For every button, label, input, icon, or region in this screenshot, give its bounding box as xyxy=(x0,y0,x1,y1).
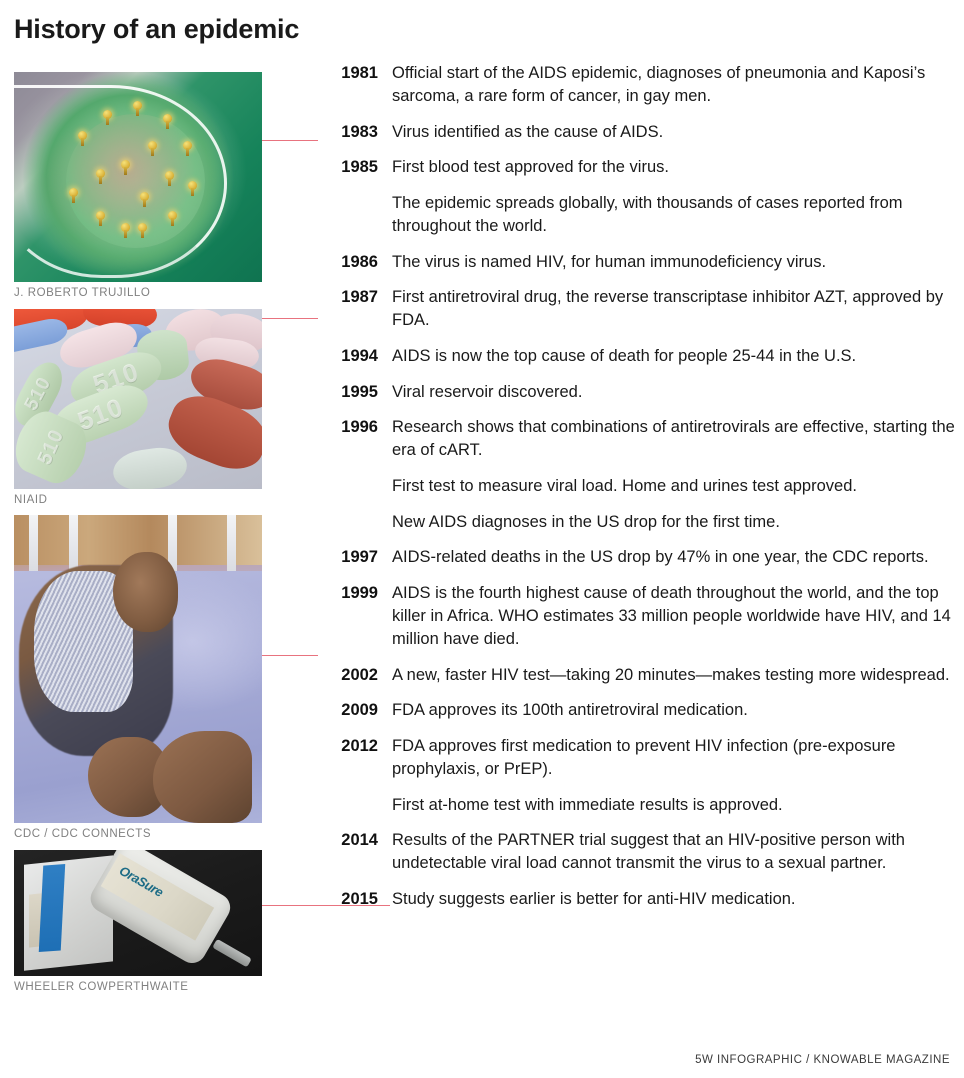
timeline-row: 1987First antiretroviral drug, the rever… xyxy=(326,286,956,332)
photo-block-virion: J. ROBERTO TRUJILLO xyxy=(14,72,262,309)
connector-1983 xyxy=(262,140,318,141)
timeline-year: 1997 xyxy=(326,546,378,569)
timeline-year: 1986 xyxy=(326,251,378,274)
timeline-year: 2014 xyxy=(326,829,378,852)
timeline-row: First at-home test with immediate result… xyxy=(326,794,956,817)
timeline-row: 1999AIDS is the fourth highest cause of … xyxy=(326,582,956,650)
glycoprotein-spike-icon xyxy=(103,110,112,119)
photo-block-test-kit: OraSure WHEELER COWPERTHWAITE xyxy=(14,850,262,1003)
glycoprotein-spike-icon xyxy=(121,223,130,232)
timeline-row: 1986The virus is named HIV, for human im… xyxy=(326,251,956,274)
timeline-year: 1995 xyxy=(326,381,378,404)
timeline-row: 1996Research shows that combinations of … xyxy=(326,416,956,462)
photo-caption: CDC / CDC CONNECTS xyxy=(14,823,262,850)
glycoprotein-spike-icon xyxy=(165,171,174,180)
glycoprotein-spike-icon xyxy=(163,114,172,123)
photo-caption: WHEELER COWPERTHWAITE xyxy=(14,976,262,1003)
photo-caption: NIAID xyxy=(14,489,262,516)
timeline-list: 1981Official start of the AIDS epidemic,… xyxy=(326,62,956,924)
caregiver-hand xyxy=(153,731,252,823)
timeline-description: First at-home test with immediate result… xyxy=(392,794,783,817)
timeline-description: FDA approves first medication to prevent… xyxy=(392,735,956,781)
photo-column: J. ROBERTO TRUJILLO 510 510 510 510 xyxy=(14,72,262,1003)
timeline-description: Research shows that combinations of anti… xyxy=(392,416,956,462)
bed-rail xyxy=(227,515,236,577)
photo-caption: J. ROBERTO TRUJILLO xyxy=(14,282,262,309)
timeline-description: AIDS is now the top cause of death for p… xyxy=(392,345,856,368)
pill-shape xyxy=(111,444,190,489)
timeline-row: 2014Results of the PARTNER trial suggest… xyxy=(326,829,956,875)
glycoprotein-spike-icon xyxy=(96,211,105,220)
timeline-row: The epidemic spreads globally, with thou… xyxy=(326,192,956,238)
connector-1987 xyxy=(262,318,318,319)
aids-patient-photo xyxy=(14,515,262,823)
glycoprotein-spike-icon xyxy=(96,169,105,178)
test-tip xyxy=(213,939,252,968)
patient-head xyxy=(113,552,177,632)
page-title: History of an epidemic xyxy=(14,14,299,45)
glycoprotein-spike-icon xyxy=(69,188,78,197)
timeline-description: The virus is named HIV, for human immuno… xyxy=(392,251,826,274)
timeline-row: 1983Virus identified as the cause of AID… xyxy=(326,121,956,144)
at-home-test-kit-photo: OraSure xyxy=(14,850,262,976)
timeline-year: 1985 xyxy=(326,156,378,179)
timeline-row: 2009FDA approves its 100th antiretrovira… xyxy=(326,699,956,722)
timeline-description: Results of the PARTNER trial suggest tha… xyxy=(392,829,956,875)
photo-block-patient: CDC / CDC CONNECTS xyxy=(14,515,262,850)
timeline-year: 2012 xyxy=(326,735,378,758)
glycoprotein-spike-icon xyxy=(183,141,192,150)
footer-credit: 5W INFOGRAPHIC / KNOWABLE MAGAZINE xyxy=(695,1054,950,1066)
timeline-row: 1994AIDS is now the top cause of death f… xyxy=(326,345,956,368)
timeline-description: Virus identified as the cause of AIDS. xyxy=(392,121,663,144)
timeline-year: 2015 xyxy=(326,888,378,911)
glycoprotein-spike-icon xyxy=(121,160,130,169)
timeline-year: 1996 xyxy=(326,416,378,439)
infographic-page: History of an epidemic xyxy=(0,0,964,1078)
timeline-year: 1981 xyxy=(326,62,378,85)
timeline-year: 1987 xyxy=(326,286,378,309)
connector-1999 xyxy=(262,655,318,656)
photo-block-pills: 510 510 510 510 NIAID xyxy=(14,309,262,516)
timeline-description: A new, faster HIV test—taking 20 minutes… xyxy=(392,664,950,687)
timeline-row: 2002A new, faster HIV test—taking 20 min… xyxy=(326,664,956,687)
timeline-description: The epidemic spreads globally, with thou… xyxy=(392,192,956,238)
timeline-description: AIDS is the fourth highest cause of deat… xyxy=(392,582,956,650)
timeline-description: Official start of the AIDS epidemic, dia… xyxy=(392,62,956,108)
timeline-year: 1983 xyxy=(326,121,378,144)
timeline-row: 2015Study suggests earlier is better for… xyxy=(326,888,956,911)
timeline-description: Study suggests earlier is better for ant… xyxy=(392,888,796,911)
antiretroviral-pills-photo: 510 510 510 510 xyxy=(14,309,262,489)
timeline-description: First antiretroviral drug, the reverse t… xyxy=(392,286,956,332)
glycoprotein-spike-icon xyxy=(188,181,197,190)
timeline-description: FDA approves its 100th antiretroviral me… xyxy=(392,699,748,722)
timeline-row: 2012FDA approves first medication to pre… xyxy=(326,735,956,781)
timeline-description: First blood test approved for the virus. xyxy=(392,156,669,179)
timeline-year: 1994 xyxy=(326,345,378,368)
bed-rail xyxy=(29,515,38,577)
connector-at-home-test xyxy=(262,905,390,906)
timeline-description: AIDS-related deaths in the US drop by 47… xyxy=(392,546,929,569)
timeline-year: 2009 xyxy=(326,699,378,722)
timeline-year: 2002 xyxy=(326,664,378,687)
timeline-row: 1985First blood test approved for the vi… xyxy=(326,156,956,179)
timeline-row: 1997AIDS-related deaths in the US drop b… xyxy=(326,546,956,569)
timeline-description: New AIDS diagnoses in the US drop for th… xyxy=(392,511,780,534)
timeline-row: First test to measure viral load. Home a… xyxy=(326,475,956,498)
timeline-row: New AIDS diagnoses in the US drop for th… xyxy=(326,511,956,534)
timeline-year: 1999 xyxy=(326,582,378,605)
timeline-row: 1995Viral reservoir discovered. xyxy=(326,381,956,404)
timeline-description: Viral reservoir discovered. xyxy=(392,381,582,404)
timeline-row: 1981Official start of the AIDS epidemic,… xyxy=(326,62,956,108)
hiv-virion-illustration xyxy=(14,72,262,282)
timeline-description: First test to measure viral load. Home a… xyxy=(392,475,857,498)
glycoprotein-spike-icon xyxy=(168,211,177,220)
